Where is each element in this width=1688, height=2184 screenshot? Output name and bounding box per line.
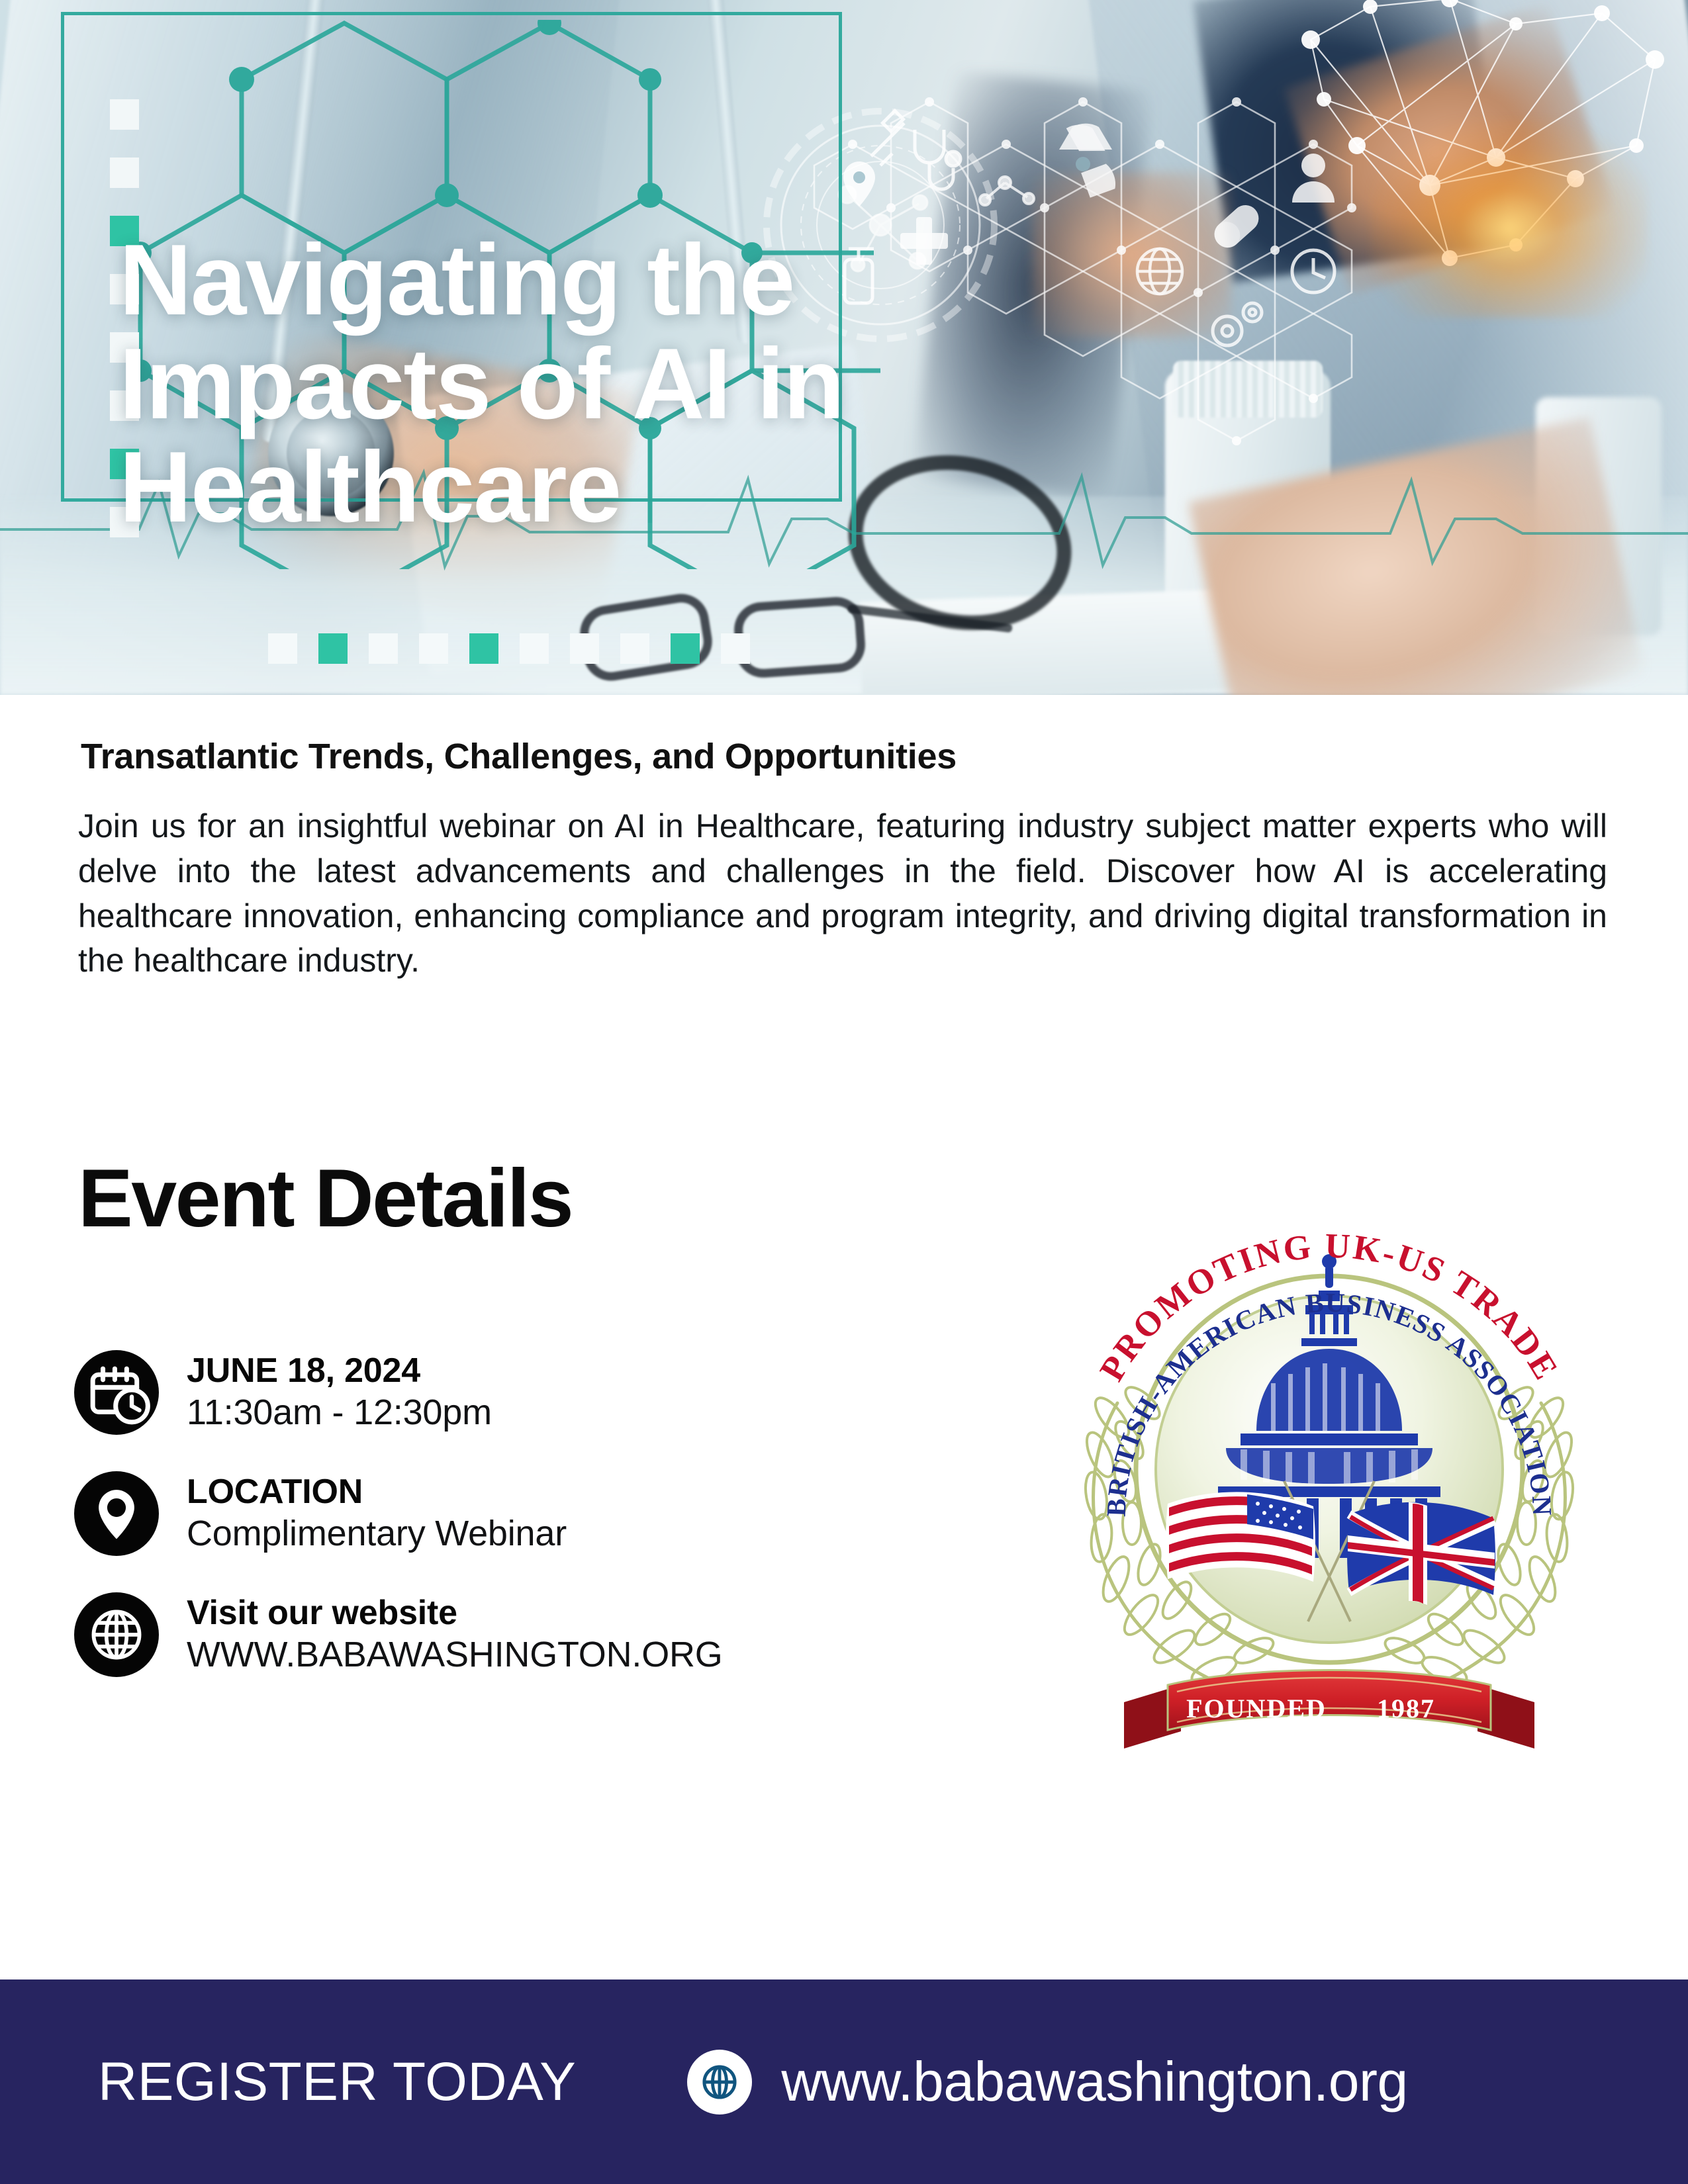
footer-bar: REGISTER TODAY www.babawashington.org (0, 1979, 1688, 2184)
event-details-heading: Event Details (78, 1152, 572, 1246)
hero-title-line-1: Navigating the (119, 228, 1284, 332)
page-title: Navigating the Impacts of AI in Healthca… (119, 228, 1284, 539)
map-pin-icon (843, 161, 875, 206)
footer-url[interactable]: www.babawashington.org (781, 2050, 1407, 2114)
detail-location-label: LOCATION (187, 1472, 567, 1512)
event-details-list: JUNE 18, 2024 11:30am - 12:30pm LOCATION… (74, 1350, 1014, 1713)
detail-location-value: Complimentary Webinar (187, 1512, 567, 1555)
molecule-icon (980, 177, 1034, 205)
footer-website[interactable]: www.babawashington.org (687, 2050, 1407, 2115)
detail-text-location: LOCATION Complimentary Webinar (187, 1472, 567, 1555)
globe-icon (687, 2050, 752, 2115)
globe-icon (74, 1592, 159, 1677)
detail-date-label: JUNE 18, 2024 (187, 1351, 492, 1391)
detail-text-website: Visit our website WWW.BABAWASHINGTON.ORG (187, 1593, 723, 1676)
detail-website-url[interactable]: WWW.BABAWASHINGTON.ORG (187, 1633, 723, 1676)
map-pin-icon (74, 1471, 159, 1556)
calendar-clock-icon (74, 1350, 159, 1435)
ribbon-founded-text: FOUNDED (1186, 1694, 1327, 1723)
detail-website-label: Visit our website (187, 1593, 723, 1633)
founded-ribbon: FOUNDED 1987 (1124, 1670, 1534, 1749)
stethoscope-icon (915, 130, 961, 189)
radiation-icon (1059, 117, 1118, 198)
dash-row (268, 633, 750, 664)
hero-title-line-3: Healthcare (119, 435, 1284, 539)
hero-banner: Navigating the Impacts of AI in Healthca… (0, 0, 1688, 695)
detail-text-date: JUNE 18, 2024 11:30am - 12:30pm (187, 1351, 492, 1434)
register-today-label: REGISTER TODAY (98, 2051, 576, 2113)
detail-row-location: LOCATION Complimentary Webinar (74, 1471, 1014, 1556)
flyer-page: Navigating the Impacts of AI in Healthca… (0, 0, 1688, 2184)
subtitle: Transatlantic Trends, Challenges, and Op… (81, 736, 1405, 777)
ribbon-year-text: 1987 (1377, 1694, 1435, 1723)
detail-row-website[interactable]: Visit our website WWW.BABAWASHINGTON.ORG (74, 1592, 1014, 1677)
baba-logo: PROMOTING UK-US TRADE BRITISH-AMERICAN B… (1038, 1185, 1620, 1767)
detail-row-date: JUNE 18, 2024 11:30am - 12:30pm (74, 1350, 1014, 1435)
lead-paragraph: Join us for an insightful webinar on AI … (78, 804, 1607, 983)
node-network-icon (1231, 0, 1688, 324)
hero-title-line-2: Impacts of AI in (119, 332, 1284, 436)
detail-time-value: 11:30am - 12:30pm (187, 1391, 492, 1434)
